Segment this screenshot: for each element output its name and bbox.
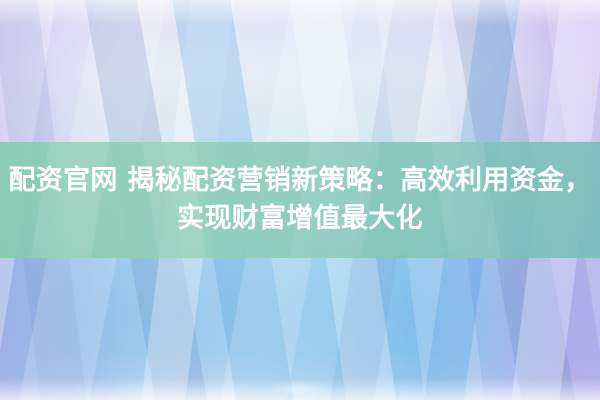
top-haze (0, 0, 600, 26)
headline-text: 配资官网 揭秘配资营销新策略：高效利用资金， 实现财富增值最大化 (0, 142, 600, 258)
headline-line-2: 实现财富增值最大化 (177, 200, 423, 238)
watermark-smudge (272, 381, 326, 397)
headline-line-1: 配资官网 揭秘配资营销新策略：高效利用资金， (9, 162, 592, 200)
banner-image: 配资官网 揭秘配资营销新策略：高效利用资金， 实现财富增值最大化 (0, 0, 600, 400)
